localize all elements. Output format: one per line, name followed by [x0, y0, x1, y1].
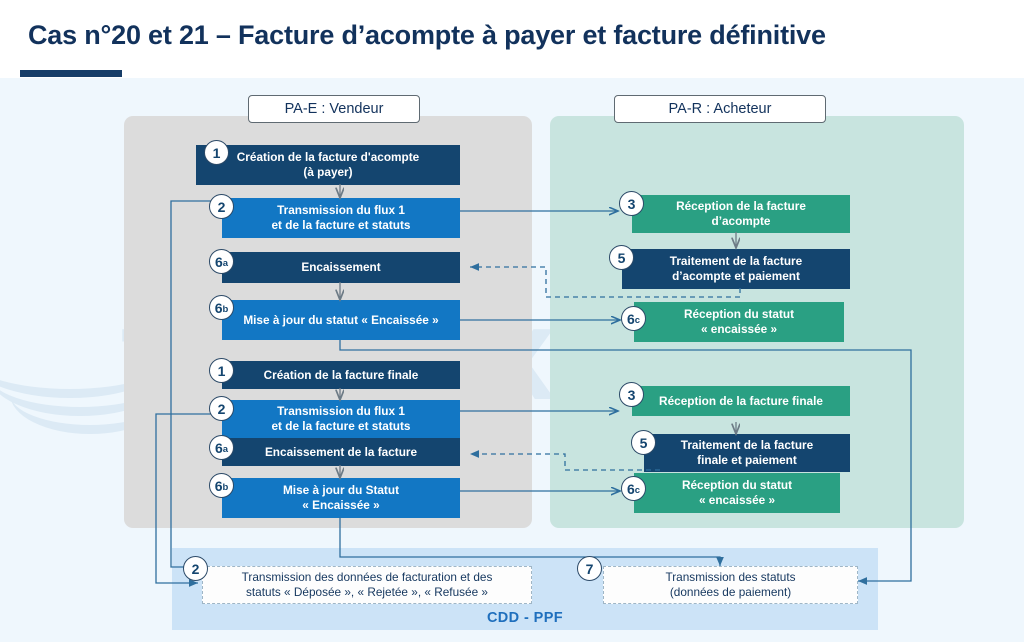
badge-number: 2 — [192, 562, 200, 576]
step-badge-seller-1a: 1 — [204, 140, 229, 165]
badge-number: 1 — [218, 364, 226, 378]
step-badge-seller-6a: 6a — [209, 249, 234, 274]
step-box-seller-1-creation-acompte[interactable]: Création de la facture d'acompte(à payer… — [196, 145, 460, 185]
badge-number: 6 — [215, 441, 223, 455]
lane-tab-buyer: PA-R : Acheteur — [614, 95, 826, 123]
step-label: Transmission du flux 1et de la facture e… — [272, 404, 411, 433]
step-box-seller-6a-encaissement-facture[interactable]: Encaissement de la facture — [222, 438, 460, 466]
step-label: Encaissement — [301, 260, 380, 275]
step-label: Transmission du flux 1et de la facture e… — [272, 203, 411, 232]
step-badge-buyer-5b: 5 — [631, 430, 656, 455]
step-box-seller-1-creation-finale[interactable]: Création de la facture finale — [222, 361, 460, 389]
badge-number: 2 — [218, 402, 226, 416]
step-badge-seller-6b: 6b — [209, 295, 234, 320]
badge-number: 5 — [640, 436, 648, 450]
badge-suffix: a — [223, 445, 228, 455]
badge-suffix: c — [635, 486, 640, 496]
badge-suffix: a — [223, 259, 228, 269]
badge-number: 6 — [215, 479, 223, 493]
step-label: Réception de la facture finale — [659, 394, 823, 409]
step-badge-buyer-3b: 3 — [619, 382, 644, 407]
step-badge-seller-6a2: 6a — [209, 435, 234, 460]
step-box-buyer-5-traitement-finale[interactable]: Traitement de la facturefinale et paieme… — [644, 434, 850, 472]
title-accent-rule — [20, 70, 122, 77]
step-box-buyer-6c-reception-statut-finale[interactable]: Réception du statut« encaissée » — [634, 473, 840, 513]
cdd-ppf-label: CDD - PPF — [172, 610, 878, 626]
step-box-seller-6b-maj-statut-acompte[interactable]: Mise à jour du statut « Encaissée » — [222, 300, 460, 340]
step-badge-platform-7: 7 — [577, 556, 602, 581]
badge-suffix: c — [635, 316, 640, 326]
badge-number: 1 — [213, 146, 221, 160]
step-badge-platform-2: 2 — [183, 556, 208, 581]
step-label: Réception de la factured’acompte — [676, 199, 806, 228]
step-badge-buyer-5a: 5 — [609, 245, 634, 270]
step-box-seller-2-transmission-finale[interactable]: Transmission du flux 1et de la facture e… — [222, 400, 460, 438]
badge-number: 7 — [586, 562, 594, 576]
badge-number: 3 — [628, 388, 636, 402]
badge-number: 3 — [628, 197, 636, 211]
badge-number: 6 — [215, 255, 223, 269]
step-badge-seller-2a: 2 — [209, 194, 234, 219]
step-label: Encaissement de la facture — [265, 445, 417, 460]
step-badge-seller-2b: 2 — [209, 396, 234, 421]
badge-number: 6 — [627, 482, 635, 496]
step-badge-seller-6b2: 6b — [209, 473, 234, 498]
lane-tab-seller: PA-E : Vendeur — [248, 95, 420, 123]
step-box-seller-2-transmission-acompte[interactable]: Transmission du flux 1et de la facture e… — [222, 198, 460, 238]
step-label: Mise à jour du Statut« Encaissée » — [283, 483, 399, 512]
step-box-buyer-3-reception-acompte[interactable]: Réception de la factured’acompte — [632, 195, 850, 233]
step-badge-buyer-6c2: 6c — [621, 476, 646, 501]
step-label: Réception du statut« encaissée » — [682, 478, 792, 507]
step-label: Traitement de la factured’acompte et pai… — [670, 254, 802, 283]
page-title: Cas n°20 et 21 – Facture d’acompte à pay… — [28, 20, 1008, 51]
badge-number: 5 — [618, 251, 626, 265]
step-label: Création de la facture finale — [264, 368, 419, 383]
badge-number: 6 — [215, 301, 223, 315]
badge-number: 6 — [627, 312, 635, 326]
step-box-seller-6a-encaissement[interactable]: Encaissement — [222, 252, 460, 283]
step-box-platform-7-transmission-statuts[interactable]: Transmission des statuts(données de paie… — [603, 566, 858, 604]
diagram-canvas: Cas n°20 et 21 – Facture d’acompte à pay… — [0, 0, 1024, 642]
step-label: Mise à jour du statut « Encaissée » — [243, 313, 438, 328]
step-box-buyer-5-traitement-acompte[interactable]: Traitement de la factured’acompte et pai… — [622, 249, 850, 289]
step-label: Transmission des statuts(données de paie… — [665, 570, 795, 599]
step-box-platform-2-transmission-donnees[interactable]: Transmission des données de facturation … — [202, 566, 532, 604]
badge-number: 2 — [218, 200, 226, 214]
step-box-buyer-3-reception-finale[interactable]: Réception de la facture finale — [632, 386, 850, 416]
step-label: Traitement de la facturefinale et paieme… — [681, 438, 813, 467]
step-badge-buyer-6c: 6c — [621, 306, 646, 331]
badge-suffix: b — [222, 483, 228, 493]
step-box-seller-6b-maj-statut-finale[interactable]: Mise à jour du Statut« Encaissée » — [222, 478, 460, 518]
step-label: Réception du statut« encaissée » — [684, 307, 794, 336]
step-badge-buyer-3a: 3 — [619, 191, 644, 216]
badge-suffix: b — [222, 305, 228, 315]
step-label: Création de la facture d'acompte(à payer… — [237, 150, 419, 179]
step-label: Transmission des données de facturation … — [242, 570, 493, 599]
step-badge-seller-1b: 1 — [209, 358, 234, 383]
step-box-buyer-6c-reception-statut-acompte[interactable]: Réception du statut« encaissée » — [634, 302, 844, 342]
